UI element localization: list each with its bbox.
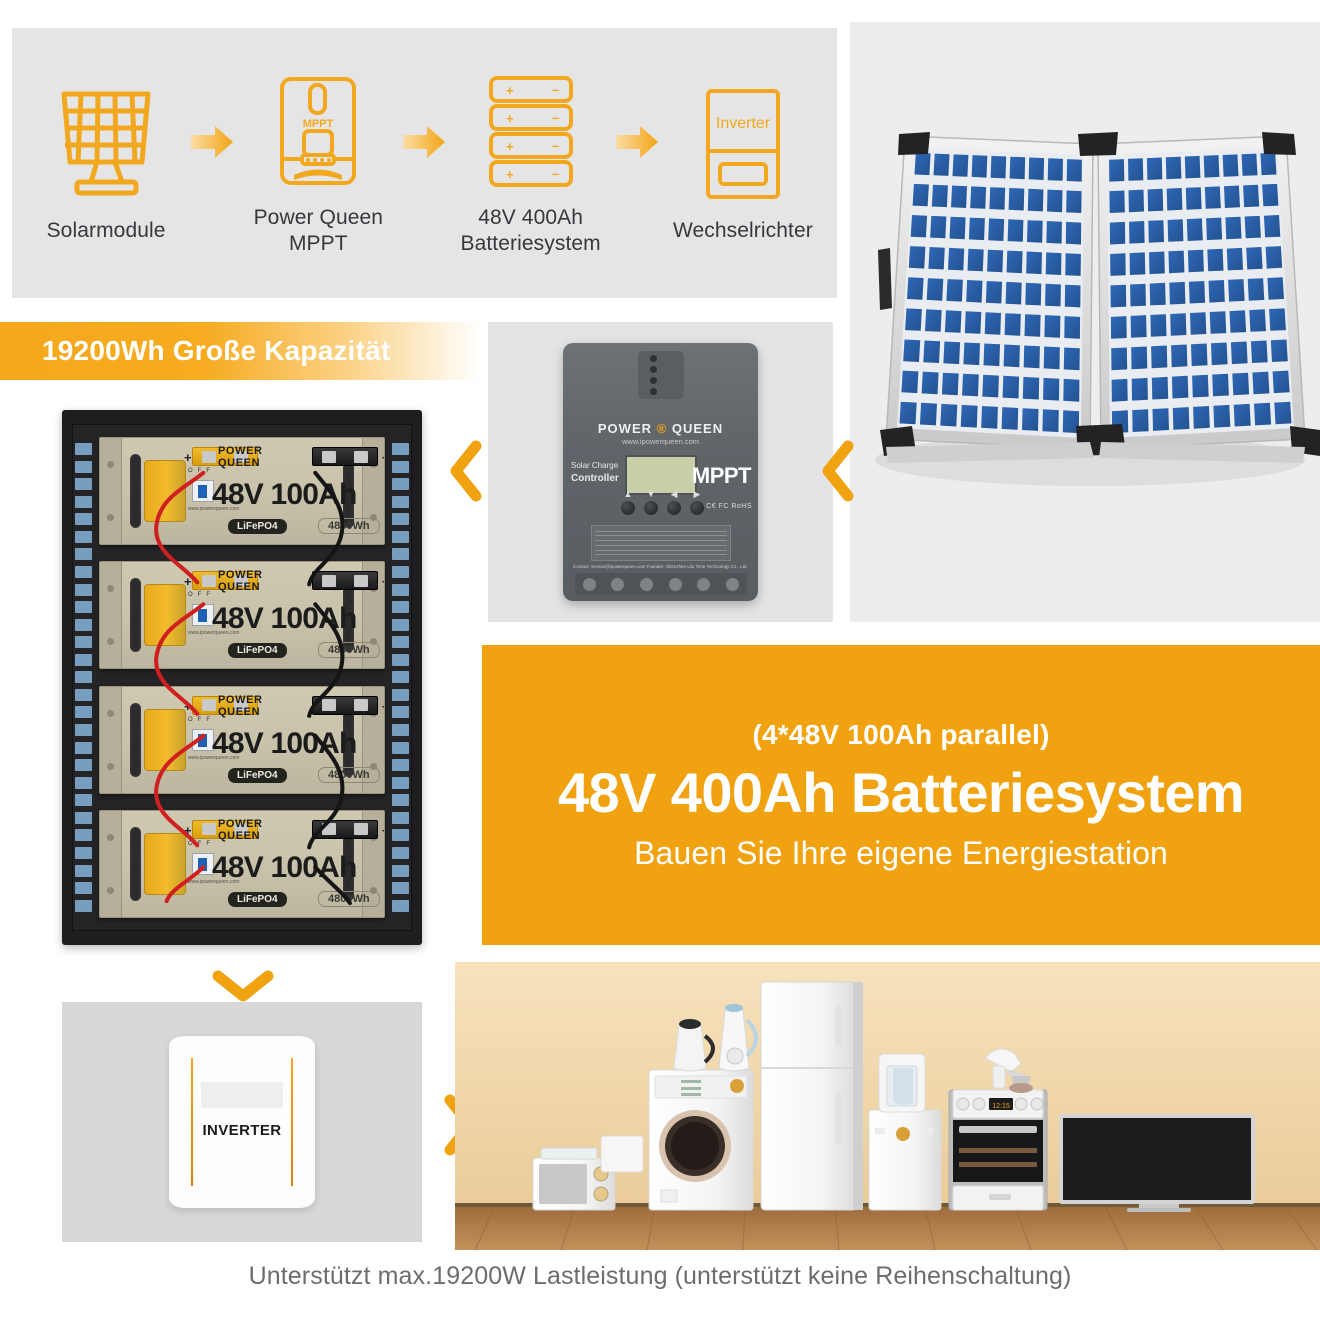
battery-rack-interior: + − OFF www.ipowerqueen.com POWER QUEEN …	[72, 424, 412, 931]
solar-panel-icon	[47, 82, 165, 200]
flow-step-inverter: Inverter Wechselrichter	[663, 82, 823, 244]
module-chemistry: LiFePO4	[228, 643, 287, 658]
svg-text:+: +	[506, 83, 514, 98]
module-yellow-block	[144, 460, 186, 522]
mppt-website: www.ipowerqueen.com	[563, 437, 758, 446]
module-ear-left	[100, 438, 122, 544]
svg-text:+: +	[506, 167, 514, 182]
mppt-certifications: C€ FC RoHS	[706, 503, 752, 510]
module-spec: 48V 100Ah	[212, 602, 357, 636]
module-plus-sign: +	[184, 699, 192, 714]
mppt-brand-queen: QUEEN	[672, 421, 723, 436]
flow-label-line: Solarmodule	[47, 218, 166, 244]
module-negative-terminal	[312, 820, 378, 839]
module-ear-left	[100, 562, 122, 668]
mppt-brand-reg-mark: ®	[657, 421, 668, 436]
mppt-button-up[interactable]	[621, 501, 635, 515]
battery-module: + − OFF www.ipowerqueen.com POWER QUEEN …	[99, 561, 385, 669]
mppt-button-down[interactable]	[644, 501, 658, 515]
flow-label-line: Batteriesystem	[460, 231, 600, 257]
module-ear-left	[100, 687, 122, 793]
mppt-controller-icon: MPPT	[278, 69, 358, 187]
module-plus-sign: +	[184, 450, 192, 465]
mppt-terminal-ports	[575, 573, 747, 595]
module-yellow-block	[144, 833, 186, 895]
appliances-photo: 12:15	[455, 962, 1320, 1250]
module-off-label: OFF	[188, 468, 215, 474]
battery-rack-photo: + − OFF www.ipowerqueen.com POWER QUEEN …	[0, 382, 480, 972]
bottom-caption: Unterstützt max.19200W Lastleistung (unt…	[0, 1262, 1320, 1291]
flow-step-solar: Solarmodule	[26, 82, 186, 244]
mppt-buttons[interactable]	[621, 501, 704, 515]
module-negative-terminal	[312, 571, 378, 590]
module-breaker-switch	[192, 853, 214, 875]
mppt-contact-line: Contact: service@ipowerqueen.com Founder…	[573, 564, 746, 569]
module-minus-sign: −	[382, 450, 385, 465]
module-chemistry: LiFePO4	[228, 519, 287, 534]
module-minus-sign: −	[382, 699, 385, 714]
battery-module: + − OFF www.ipowerqueen.com POWER QUEEN …	[99, 686, 385, 794]
svg-text:12:15: 12:15	[992, 1103, 1010, 1110]
module-spec: 48V 100Ah	[212, 478, 357, 512]
svg-text:+: +	[506, 139, 514, 154]
module-chemistry: LiFePO4	[228, 892, 287, 907]
module-energy: 4800Wh	[318, 518, 380, 534]
module-brand: POWER QUEEN	[218, 695, 263, 719]
solar-panel-photo: (function(){ const svg = document.queryS…	[850, 22, 1320, 622]
module-spec: 48V 100Ah	[212, 727, 357, 761]
module-chemistry: LiFePO4	[228, 768, 287, 783]
module-brand: POWER QUEEN	[218, 819, 263, 843]
mppt-subtitle: Solar Charge Controller	[571, 461, 623, 485]
flow-step-label: Solarmodule	[47, 218, 166, 244]
module-spec: 48V 100Ah	[212, 851, 357, 885]
mppt-controller-photo: POWER ® QUEEN www.ipowerqueen.com Solar …	[488, 322, 833, 622]
mppt-button-left[interactable]	[667, 501, 681, 515]
module-off-label: OFF	[188, 717, 215, 723]
module-negative-terminal	[312, 447, 378, 466]
inverter-label: INVERTER	[169, 1122, 315, 1139]
module-off-on-labels: OFF	[188, 592, 215, 598]
mppt-led-indicators	[638, 351, 684, 399]
svg-text:–: –	[552, 82, 559, 97]
mppt-button-arrows: ▲ ▼ ◀ ▶	[621, 489, 704, 500]
module-handle-left	[130, 827, 141, 901]
inverter-display	[201, 1082, 283, 1108]
svg-text:–: –	[552, 166, 559, 181]
chevron-left-icon-mppt-to-solar	[818, 440, 858, 507]
flow-label-line: Wechselrichter	[673, 218, 813, 244]
mppt-subtitle-line1: Solar Charge	[571, 461, 623, 472]
mppt-device-body: POWER ® QUEEN www.ipowerqueen.com Solar …	[563, 343, 758, 601]
module-brand: POWER QUEEN	[218, 446, 263, 470]
svg-text:–: –	[552, 138, 559, 153]
module-brand: POWER QUEEN	[218, 570, 263, 594]
module-plus-sign: +	[184, 823, 192, 838]
module-energy: 4800Wh	[318, 891, 380, 907]
flow-label-line: Power Queen	[254, 205, 384, 231]
rack-rail-left	[75, 443, 92, 912]
flow-step-label: 48V 400Ah Batteriesystem	[460, 205, 600, 258]
infographic-root: Solarmodule	[0, 0, 1320, 1320]
capacity-banner-text: 19200Wh Große Kapazität	[0, 335, 390, 367]
flow-step-battery: +– +– +– +– 48V 400Ah Batteriesystem	[451, 69, 611, 258]
inverter-photo: INVERTER	[62, 1002, 422, 1242]
module-negative-terminal	[312, 696, 378, 715]
mppt-arrow-left: ◀	[667, 489, 681, 500]
module-yellow-block	[144, 709, 186, 771]
inverter-icon: Inverter	[704, 82, 782, 200]
flow-step-label: Power Queen MPPT	[254, 205, 384, 258]
mppt-spec-table	[591, 525, 731, 561]
module-handle-left	[130, 578, 141, 652]
mppt-brand-power: POWER	[598, 421, 652, 436]
flow-arrow-2-icon	[398, 124, 450, 160]
module-breaker-switch	[192, 480, 214, 502]
module-breaker-switch	[192, 729, 214, 751]
battery-module: + − OFF www.ipowerqueen.com POWER QUEEN …	[99, 810, 385, 918]
flow-label-line: 48V 400Ah	[460, 205, 600, 231]
inverter-device-body: INVERTER	[169, 1036, 315, 1208]
module-off-label: OFF	[188, 841, 215, 847]
mppt-type-label: MPPT	[692, 463, 751, 489]
mppt-brand-logo: POWER ® QUEEN	[563, 421, 758, 436]
headline-tagline: Bauen Sie Ihre eigene Energiestation	[634, 835, 1168, 872]
mppt-icon-text: MPPT	[303, 118, 334, 130]
flow-step-label: Wechselrichter	[673, 218, 813, 244]
battery-stack-icon: +– +– +– +–	[486, 69, 576, 187]
svg-text:+: +	[506, 111, 514, 126]
module-minus-sign: −	[382, 823, 385, 838]
flow-arrow-3-icon	[611, 124, 663, 160]
battery-rack-enclosure: + − OFF www.ipowerqueen.com POWER QUEEN …	[62, 410, 422, 945]
module-breaker-switch	[192, 604, 214, 626]
module-energy: 4800Wh	[318, 642, 380, 658]
module-off-label: OFF	[188, 592, 215, 598]
rack-rail-right	[392, 443, 409, 912]
mppt-arrow-down: ▼	[644, 489, 658, 500]
module-off-on-labels: OFF	[188, 468, 215, 474]
module-handle-left	[130, 703, 141, 777]
mppt-button-right[interactable]	[690, 501, 704, 515]
flow-arrow-1-icon	[186, 124, 238, 160]
flow-label-line: MPPT	[254, 231, 384, 257]
module-off-on-labels: OFF	[188, 717, 215, 723]
system-flow-diagram: Solarmodule	[12, 28, 837, 298]
module-plus-sign: +	[184, 574, 192, 589]
inverter-icon-text: Inverter	[716, 115, 771, 132]
flow-step-mppt: MPPT Power Queen MPPT	[238, 69, 398, 258]
module-off-on-labels: OFF	[188, 841, 215, 847]
mppt-arrow-right: ▶	[690, 489, 704, 500]
chevron-left-icon-rack-to-mppt	[446, 440, 486, 507]
svg-text:–: –	[552, 110, 559, 125]
module-handle-left	[130, 454, 141, 528]
battery-module: + − OFF www.ipowerqueen.com POWER QUEEN …	[99, 437, 385, 545]
headline-subtitle: (4*48V 100Ah parallel)	[753, 719, 1050, 751]
capacity-banner: 19200Wh Große Kapazität	[0, 322, 480, 380]
headline-title: 48V 400Ah Batteriesystem	[558, 765, 1244, 821]
mppt-subtitle-line2: Controller	[571, 473, 619, 484]
module-minus-sign: −	[382, 574, 385, 589]
product-headline-block: (4*48V 100Ah parallel) 48V 400Ah Batteri…	[482, 645, 1320, 945]
module-ear-left	[100, 811, 122, 917]
module-yellow-block	[144, 584, 186, 646]
module-energy: 4800Wh	[318, 767, 380, 783]
mppt-arrow-up: ▲	[621, 489, 635, 500]
